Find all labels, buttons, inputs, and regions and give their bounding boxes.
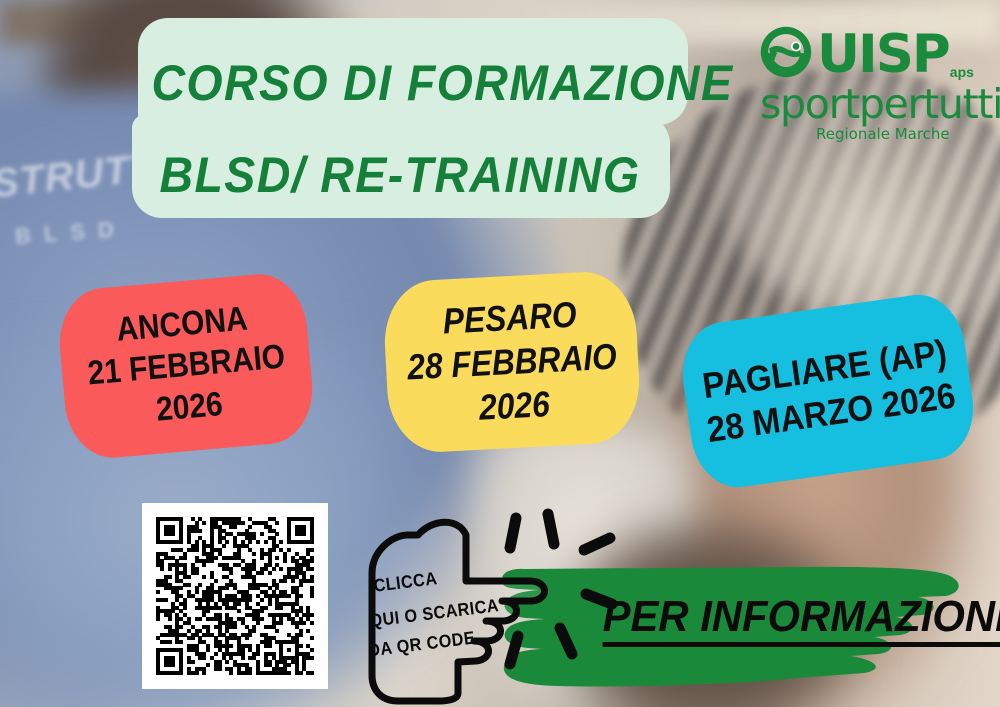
uisp-logo: uisp UISP aps sportpertutti Regionale Ma… — [758, 24, 972, 142]
title-line-2: BLSD/ RE-TRAINING — [141, 146, 658, 204]
logo-aps-suffix: aps — [950, 64, 974, 80]
logo-top-row: uisp UISP aps — [758, 24, 974, 80]
qr-code-image[interactable] — [156, 517, 314, 675]
badge-date: 28 FEBBRAIO — [406, 335, 617, 390]
badge-year: 2026 — [478, 382, 551, 430]
event-badge-ancona[interactable]: ANCONA 21 FEBBRAIO 2026 — [55, 271, 317, 462]
uisp-circle-athlete-emblem-icon: uisp — [758, 24, 814, 80]
page-title: CORSO DI FORMAZIONE BLSD/ RE-TRAINING — [132, 18, 688, 218]
poster-canvas: ISTRUTTOR BLSD CORSO DI FORMAZIONE BLSD/… — [0, 0, 1000, 707]
svg-text:uisp: uisp — [777, 26, 794, 35]
logo-wordmark: UISP — [817, 30, 949, 80]
title-line-1: CORSO DI FORMAZIONE — [151, 54, 668, 112]
logo-tagline: sportpertutti — [760, 80, 1000, 128]
qr-code[interactable] — [142, 503, 328, 689]
badge-city: PESARO — [442, 293, 578, 344]
logo-region: Regionale Marche — [816, 125, 950, 143]
event-badge-pesaro[interactable]: PESARO 28 FEBBRAIO 2026 — [382, 270, 643, 455]
badge-year: 2026 — [155, 384, 225, 431]
